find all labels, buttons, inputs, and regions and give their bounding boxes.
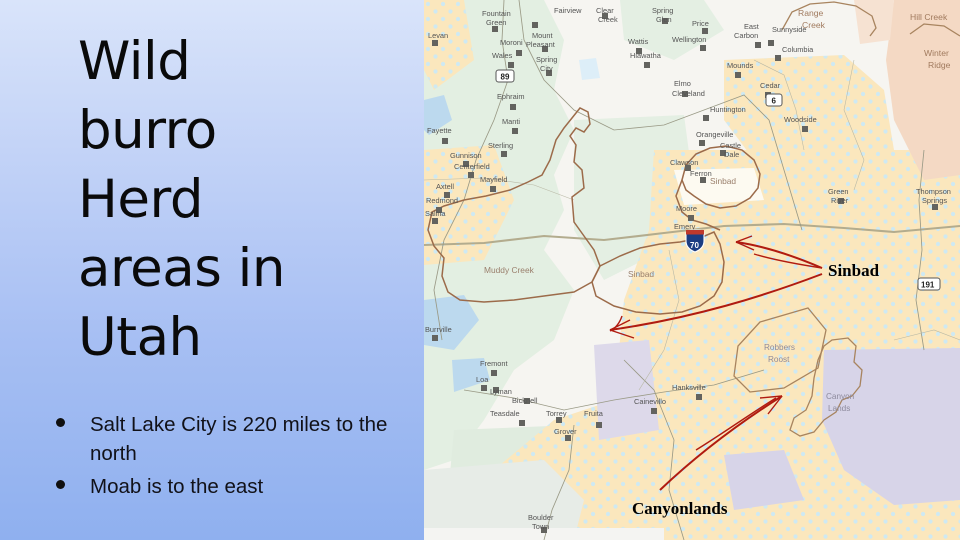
svg-text:Ephraim: Ephraim: [497, 92, 525, 101]
title-line-5: Utah: [78, 304, 378, 373]
svg-text:Cleveland: Cleveland: [672, 89, 705, 98]
title-line-2: burro: [78, 97, 378, 166]
page-title: Wild burro Herd areas in Utah: [78, 28, 378, 372]
svg-text:River: River: [831, 196, 849, 205]
svg-text:Huntington: Huntington: [710, 105, 746, 114]
svg-text:Fremont: Fremont: [480, 359, 508, 368]
svg-text:70: 70: [690, 241, 699, 250]
svg-text:Winter: Winter: [924, 48, 949, 58]
svg-text:Glen: Glen: [656, 15, 672, 24]
svg-text:City: City: [540, 64, 553, 73]
us-6-shield: 6: [766, 94, 782, 106]
presentation-slide: Wild burro Herd areas in Utah Salt Lake …: [0, 0, 960, 540]
svg-text:Mounds: Mounds: [727, 61, 754, 70]
title-line-3: Herd: [78, 166, 378, 235]
svg-text:Spring: Spring: [652, 6, 673, 15]
bullet-text: Moab is to the east: [90, 475, 263, 498]
svg-text:Robbers: Robbers: [764, 343, 795, 352]
svg-text:Ferron: Ferron: [690, 169, 712, 178]
svg-text:Wellington: Wellington: [672, 35, 706, 44]
svg-text:Sterling: Sterling: [488, 141, 513, 150]
svg-text:Redmond: Redmond: [426, 196, 458, 205]
svg-text:Spring: Spring: [536, 55, 557, 64]
svg-text:Town: Town: [532, 522, 549, 531]
svg-text:Fountain: Fountain: [482, 9, 511, 18]
svg-text:Pleasant: Pleasant: [526, 40, 555, 49]
interstate-70-shield: 70: [686, 230, 704, 252]
bullet-text: Salt Lake City is 220 miles to the north: [90, 413, 387, 465]
svg-text:Burrville: Burrville: [425, 325, 452, 334]
svg-text:Gunnison: Gunnison: [450, 151, 482, 160]
text-panel: Wild burro Herd areas in Utah Salt Lake …: [0, 0, 424, 540]
svg-text:Orangeville: Orangeville: [696, 130, 733, 139]
svg-text:Salina: Salina: [425, 209, 446, 218]
svg-text:Price: Price: [692, 19, 709, 28]
svg-text:Green: Green: [486, 18, 507, 27]
list-item: Moab is to the east: [52, 472, 412, 501]
svg-text:Muddy Creek: Muddy Creek: [484, 265, 535, 275]
svg-text:Fruita: Fruita: [584, 409, 604, 418]
svg-text:Green: Green: [828, 187, 849, 196]
svg-text:Hill Creek: Hill Creek: [910, 12, 948, 22]
svg-text:Wattis: Wattis: [628, 37, 649, 46]
svg-text:Elmo: Elmo: [674, 79, 691, 88]
title-line-4: areas in: [78, 235, 378, 304]
svg-text:Hiawatha: Hiawatha: [630, 51, 662, 60]
svg-text:Hanksville: Hanksville: [672, 383, 706, 392]
svg-text:Lands: Lands: [828, 404, 850, 413]
svg-text:Clear: Clear: [596, 6, 614, 15]
bullet-dot-icon: [56, 418, 65, 427]
svg-text:Manti: Manti: [502, 117, 520, 126]
svg-text:Ridge: Ridge: [928, 60, 951, 70]
svg-text:Castle: Castle: [720, 141, 741, 150]
svg-text:191: 191: [921, 281, 935, 290]
svg-text:Columbia: Columbia: [782, 45, 814, 54]
svg-text:Creek: Creek: [802, 20, 826, 30]
svg-text:Bicknell: Bicknell: [512, 396, 538, 405]
svg-text:Loa: Loa: [476, 375, 489, 384]
svg-text:Springs: Springs: [922, 196, 947, 205]
svg-text:6: 6: [772, 97, 777, 106]
svg-text:Torrey: Torrey: [546, 409, 567, 418]
annotation-label-sinbad: Sinbad: [828, 261, 880, 280]
svg-text:Clawson: Clawson: [670, 158, 698, 167]
annotation-label-canyonlands: Canyonlands: [632, 499, 728, 518]
svg-text:Grover: Grover: [554, 427, 577, 436]
svg-text:Mount: Mount: [532, 31, 553, 40]
svg-text:Teasdale: Teasdale: [490, 409, 520, 418]
bullet-dot-icon: [56, 480, 65, 489]
svg-text:Dale: Dale: [724, 150, 739, 159]
svg-text:Thompson: Thompson: [916, 187, 951, 196]
map-image: Levan Fountain Green Fairview Clear Cree…: [424, 0, 960, 540]
svg-text:Mayfield: Mayfield: [480, 175, 508, 184]
svg-text:Sinbad: Sinbad: [628, 269, 654, 279]
svg-text:89: 89: [501, 73, 510, 82]
title-line-1: Wild: [78, 28, 378, 97]
svg-text:East: East: [744, 22, 759, 31]
svg-text:Roost: Roost: [768, 355, 790, 364]
svg-text:Creek: Creek: [598, 15, 618, 24]
svg-text:Woodside: Woodside: [784, 115, 817, 124]
list-item: Salt Lake City is 220 miles to the north: [52, 410, 412, 468]
svg-text:Levan: Levan: [428, 31, 448, 40]
us-191-shield: 191: [918, 278, 940, 290]
bullet-list: Salt Lake City is 220 miles to the north…: [52, 410, 412, 505]
svg-text:Fayette: Fayette: [427, 126, 452, 135]
svg-text:Cainevillo: Cainevillo: [634, 397, 666, 406]
svg-text:Axtell: Axtell: [436, 182, 454, 191]
svg-text:Carbon: Carbon: [734, 31, 758, 40]
svg-text:Centerfield: Centerfield: [454, 162, 490, 171]
svg-text:Wales: Wales: [492, 51, 513, 60]
svg-text:Boulder: Boulder: [528, 513, 554, 522]
svg-text:Moroni: Moroni: [500, 38, 523, 47]
svg-text:Fairview: Fairview: [554, 6, 582, 15]
svg-text:Cedar: Cedar: [760, 81, 781, 90]
svg-text:Sinbad: Sinbad: [710, 176, 736, 186]
svg-text:Moore: Moore: [676, 204, 697, 213]
us-89-shield: 89: [496, 70, 514, 82]
svg-text:Lyman: Lyman: [490, 387, 512, 396]
svg-text:Range: Range: [798, 8, 824, 18]
svg-text:Canyon: Canyon: [826, 392, 855, 401]
